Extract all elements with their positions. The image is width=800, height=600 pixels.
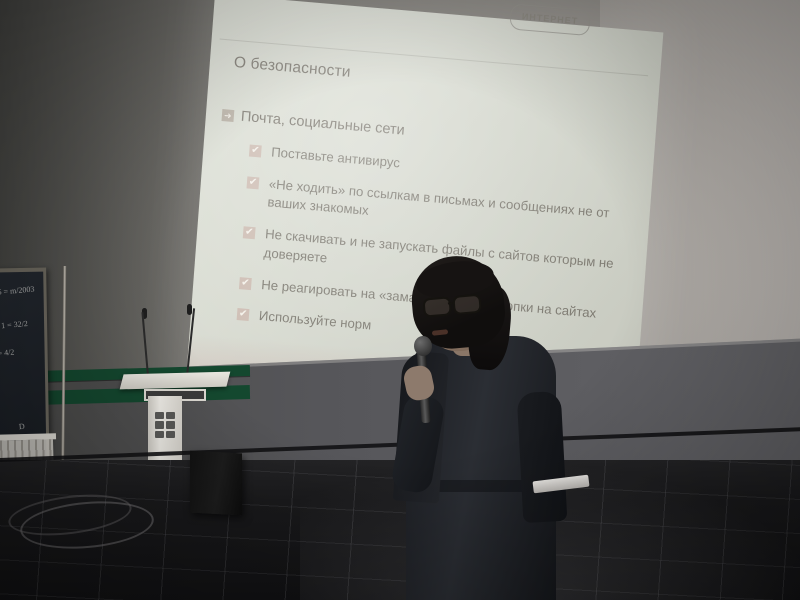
presentation-photo: ИНТЕРНЕТ О безопасности ➜ Почта, социаль… [0, 0, 800, 600]
check-icon: ✔ [243, 226, 256, 239]
slide-level1-text: Почта, социальные сети [240, 109, 405, 139]
chalkboard-line: = 4/2 [0, 348, 15, 358]
podium-button [155, 412, 164, 419]
glasses-lens-left [422, 296, 452, 317]
podium-button [155, 431, 164, 438]
presenter-right-arm [517, 391, 568, 523]
slide-logo: ИНТЕРНЕТ [509, 3, 591, 36]
podium-control-panel [155, 412, 175, 438]
arrow-right-icon: ➜ [221, 109, 234, 122]
podium-button [166, 421, 175, 428]
list-item-label: Поставьте антивирус [271, 143, 401, 173]
check-icon: ✔ [239, 277, 252, 290]
check-icon: ✔ [237, 308, 250, 321]
floor-speaker [190, 451, 242, 516]
slide-level1-bullet: ➜ Почта, социальные сети [221, 107, 405, 139]
chalkboard-line: D [19, 422, 26, 431]
check-icon: ✔ [247, 176, 260, 189]
podium-button [166, 412, 175, 419]
slide-logo-text: ИНТЕРНЕТ [510, 4, 589, 33]
slide-title: О безопасности [233, 54, 351, 82]
podium-button [155, 421, 164, 428]
chalkboard-line: 1 = 32/2 [1, 319, 28, 330]
list-item-label: Используйте норм [258, 307, 372, 335]
glasses-lens-right [452, 294, 482, 315]
podium-microphone-head [187, 304, 192, 315]
chalkboard-line: 5 = m/2003 [0, 284, 35, 296]
check-icon: ✔ [249, 145, 262, 158]
podium-desktop [120, 372, 231, 390]
podium-button [166, 431, 175, 438]
